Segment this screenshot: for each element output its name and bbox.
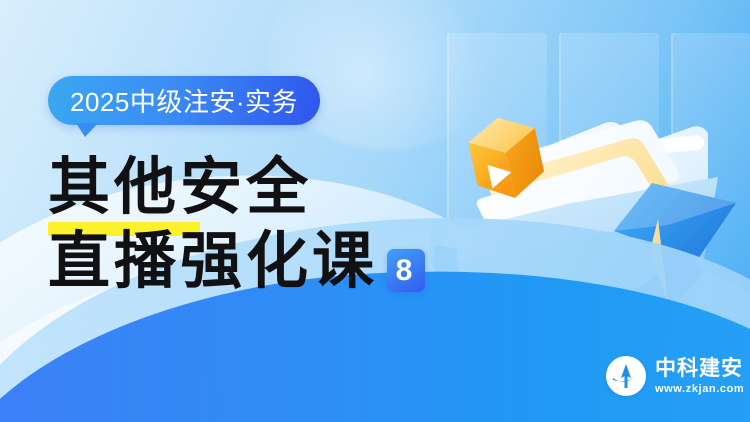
brand-url: www.zkjan.com <box>655 384 744 395</box>
brand-logo: 中科建安 www.zkjan.com <box>606 356 744 396</box>
badge-tail-icon <box>76 123 98 137</box>
title-line-2-text: 直播强化课 <box>48 224 378 298</box>
title-block: 其他安全 直播强化课 8 <box>48 150 468 298</box>
course-category-badge: 2025中级注安·实务 <box>48 76 320 125</box>
title-line-2: 直播强化课 8 <box>48 224 468 298</box>
title-line-1: 其他安全 <box>48 150 468 224</box>
brand-name: 中科建安 <box>655 358 744 379</box>
zkjan-circle-logo-icon <box>606 356 646 396</box>
episode-number-label: 8 <box>396 256 417 286</box>
course-category-label: 2025中级注安·实务 <box>70 82 298 119</box>
episode-number-badge: 8 <box>387 249 425 292</box>
brand-logo-text: 中科建安 www.zkjan.com <box>655 358 744 395</box>
course-promo-banner: 2025中级注安·实务 其他安全 直播强化课 8 中科建安 www.zkjan <box>0 0 750 422</box>
title-line-1-text: 其他安全 <box>48 150 312 224</box>
